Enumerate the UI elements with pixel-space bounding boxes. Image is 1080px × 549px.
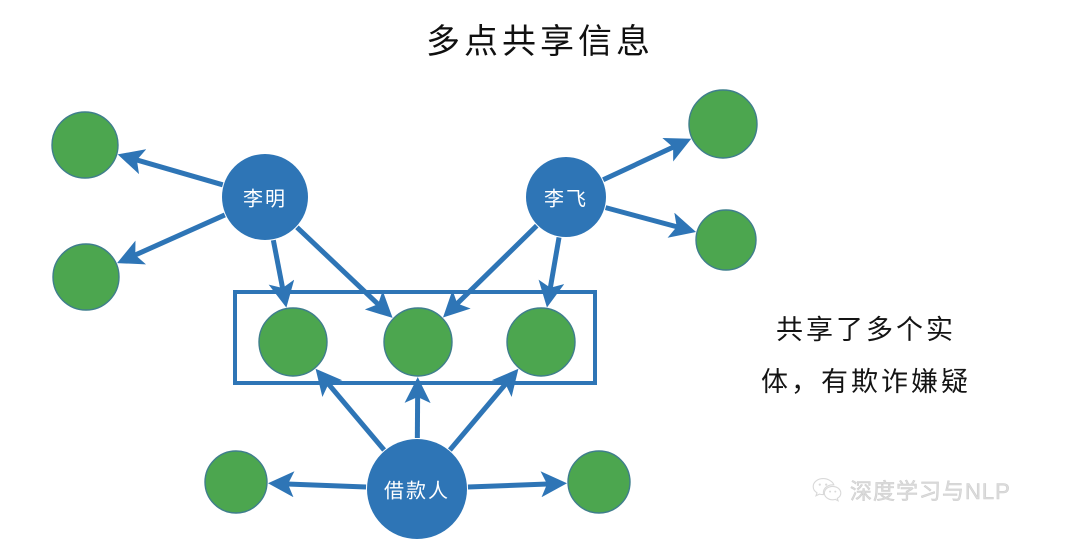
entity-node-e-bottom-right[interactable] [568, 451, 630, 513]
edge-liming-to-top-left [123, 156, 222, 185]
edge-lifei-to-top-right [603, 141, 686, 179]
person-node-jiekuanren[interactable] [367, 439, 467, 539]
watermark: 深度学习与NLP [812, 474, 1011, 506]
annotation-line-2: 体，有欺诈嫌疑 [716, 356, 1016, 408]
person-node-liming[interactable] [222, 154, 308, 240]
watermark-text: 深度学习与NLP [850, 474, 1011, 506]
edge-liming-to-shared-2 [297, 227, 388, 314]
edge-liming-to-mid-left [123, 215, 225, 261]
graph-svg [0, 0, 1080, 549]
entity-node-e-mid-right[interactable] [696, 210, 756, 270]
edge-lifei-to-mid-right [606, 208, 691, 231]
entity-node-e-shared-2[interactable] [384, 308, 452, 376]
entity-node-e-bottom-left[interactable] [205, 451, 267, 513]
entity-node-e-shared-1[interactable] [259, 308, 327, 376]
wechat-icon [812, 477, 842, 503]
entity-node-e-top-left[interactable] [52, 112, 118, 178]
annotation-text: 共享了多个实 体，有欺诈嫌疑 [716, 304, 1016, 408]
entity-node-e-shared-3[interactable] [507, 308, 575, 376]
edge-borrower-to-bottom-left [274, 483, 366, 487]
edge-lifei-to-shared-2 [447, 226, 536, 314]
diagram-canvas: 多点共享信息 李明李飞借款人 共享了多个实 体，有欺诈嫌疑 深度学习与NLP [0, 0, 1080, 549]
entity-node-e-top-right[interactable] [689, 90, 757, 158]
edge-borrower-to-bottom-right [468, 483, 561, 487]
entity-node-e-mid-left[interactable] [53, 244, 119, 310]
annotation-line-1: 共享了多个实 [716, 304, 1016, 356]
person-node-lifei[interactable] [526, 157, 606, 237]
